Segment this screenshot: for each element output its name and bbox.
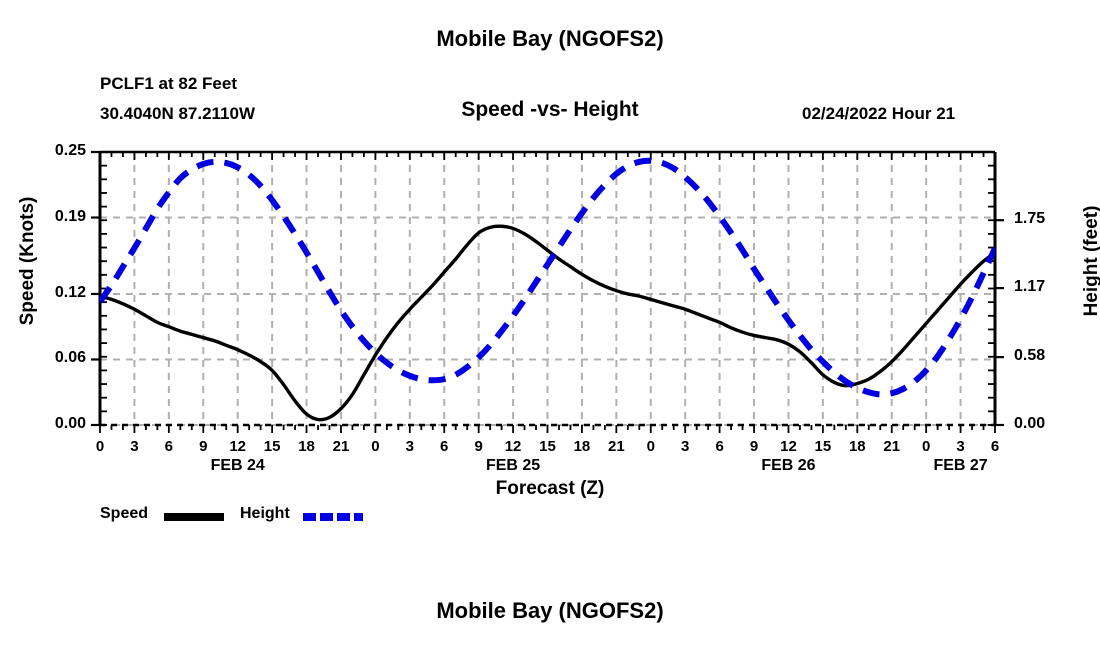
- y-tick-label-left: 0.06: [28, 349, 86, 367]
- legend-swatch-height: [303, 513, 363, 521]
- x-tick-label: 6: [154, 438, 184, 455]
- x-tick-label: 15: [533, 438, 563, 455]
- x-axis-day-label: FEB 24: [178, 457, 298, 475]
- x-tick-label: 3: [670, 438, 700, 455]
- y-tick-label-right: 1.75: [1014, 210, 1074, 228]
- x-tick-label: 18: [842, 438, 872, 455]
- legend-swatch-speed: [164, 513, 224, 521]
- y-tick-label-right: 0.00: [1014, 415, 1074, 433]
- legend-label-height: Height: [240, 505, 290, 523]
- x-axis-day-label: FEB 25: [453, 457, 573, 475]
- plot-canvas: [0, 0, 1100, 650]
- x-tick-label: 12: [223, 438, 253, 455]
- x-axis-day-label: FEB 26: [728, 457, 848, 475]
- page-title-bottom: Mobile Bay (NGOFS2): [0, 598, 1100, 624]
- x-tick-label: 9: [464, 438, 494, 455]
- x-tick-label: 6: [429, 438, 459, 455]
- x-tick-label: 21: [877, 438, 907, 455]
- y-tick-label-left: 0.25: [28, 142, 86, 160]
- y-tick-label-left: 0.12: [28, 284, 86, 302]
- x-tick-label: 3: [946, 438, 976, 455]
- x-tick-label: 9: [739, 438, 769, 455]
- x-tick-label: 0: [911, 438, 941, 455]
- x-tick-label: 21: [601, 438, 631, 455]
- x-tick-label: 12: [773, 438, 803, 455]
- x-tick-label: 9: [188, 438, 218, 455]
- x-tick-label: 6: [705, 438, 735, 455]
- legend-label-speed: Speed: [100, 505, 148, 523]
- x-tick-label: 0: [636, 438, 666, 455]
- x-tick-label: 18: [567, 438, 597, 455]
- x-tick-label: 21: [326, 438, 356, 455]
- y-tick-label-left: 0.19: [28, 208, 86, 226]
- x-axis-day-label: FEB 27: [901, 457, 1021, 475]
- chart-page: Mobile Bay (NGOFS2) PCLF1 at 82 Feet 30.…: [0, 0, 1100, 650]
- x-tick-label: 18: [292, 438, 322, 455]
- x-tick-label: 0: [85, 438, 115, 455]
- x-tick-label: 0: [360, 438, 390, 455]
- x-tick-label: 6: [980, 438, 1010, 455]
- x-tick-label: 3: [395, 438, 425, 455]
- x-tick-label: 12: [498, 438, 528, 455]
- x-tick-label: 15: [257, 438, 287, 455]
- y-tick-label-left: 0.00: [28, 415, 86, 433]
- x-tick-label: 3: [119, 438, 149, 455]
- x-tick-label: 15: [808, 438, 838, 455]
- y-tick-label-right: 0.58: [1014, 347, 1074, 365]
- y-tick-label-right: 1.17: [1014, 278, 1074, 296]
